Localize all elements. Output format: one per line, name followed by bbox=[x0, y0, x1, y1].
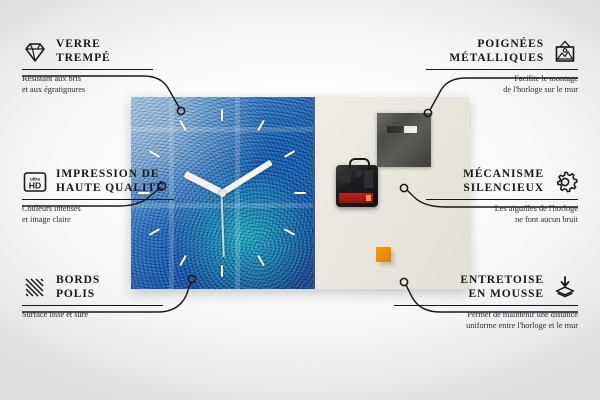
callout-rule bbox=[22, 305, 163, 306]
clock-tick bbox=[221, 109, 223, 121]
polished-edge-icon bbox=[22, 275, 48, 301]
mechanism-battery bbox=[339, 193, 373, 203]
gear-icon bbox=[552, 169, 578, 195]
callout-desc-line2: ne font aucun bruit bbox=[393, 215, 578, 226]
callout-title-line2: SILENCIEUX bbox=[463, 182, 544, 196]
callout-poignees-metalliques: POIGNÉES MÉTALLIQUES Facilite le montage… bbox=[393, 38, 578, 95]
callout-impression-haute-qualite: ultra HD IMPRESSION DE HAUTE QUALITÉ Cou… bbox=[22, 168, 207, 225]
callout-desc-line2: et aux égratignures bbox=[22, 85, 207, 96]
callout-title-line2: HAUTE QUALITÉ bbox=[56, 182, 165, 196]
callout-bords-polis: BORDS POLIS Surface lisse et sûre bbox=[22, 274, 207, 321]
hanger-slot bbox=[386, 125, 418, 134]
clock-center-hub bbox=[219, 190, 226, 197]
callout-title-line2: EN MOUSSE bbox=[460, 288, 544, 302]
callout-title-line1: VERRE bbox=[56, 38, 111, 52]
picture-frame-hanger-icon bbox=[552, 39, 578, 65]
svg-text:HD: HD bbox=[29, 180, 41, 190]
callout-title-line2: POLIS bbox=[56, 288, 100, 302]
clock-mechanism bbox=[336, 165, 378, 207]
ultra-hd-icon: ultra HD bbox=[22, 169, 48, 195]
battery-terminal bbox=[366, 195, 371, 201]
callout-desc-line1: Facilite le montage bbox=[393, 74, 578, 85]
mechanism-detail-c bbox=[364, 170, 373, 188]
callout-title-line1: BORDS bbox=[56, 274, 100, 288]
mechanism-detail-b bbox=[355, 170, 362, 177]
callout-desc-line1: Permet de maintenir une distance bbox=[373, 310, 578, 321]
callout-desc-line1: Les aiguilles de l'horloge bbox=[393, 204, 578, 215]
callout-desc-line2: uniforme entre l'horloge et le mur bbox=[373, 321, 578, 332]
callout-desc-line1: Résistant aux bris bbox=[22, 74, 207, 85]
foam-spacer-icon bbox=[552, 275, 578, 301]
callout-title-line1: ENTRETOISE bbox=[460, 274, 544, 288]
metal-hanger bbox=[377, 113, 431, 167]
callout-desc-line1: Couleurs intenses bbox=[22, 204, 207, 215]
callout-title-line1: POIGNÉES bbox=[449, 38, 544, 52]
callout-entretoise-en-mousse: ENTRETOISE EN MOUSSE Permet de maintenir… bbox=[373, 274, 578, 331]
callout-rule bbox=[426, 199, 578, 200]
panel-seam-vertical-2 bbox=[235, 97, 240, 289]
callout-desc-line2: de l'horloge sur le mur bbox=[393, 85, 578, 96]
callout-title-line1: MÉCANISME bbox=[463, 168, 544, 182]
diamond-icon bbox=[22, 39, 48, 65]
callout-rule bbox=[22, 69, 153, 70]
panel-seam-horizontal-1 bbox=[131, 127, 313, 132]
infographic-canvas: VERRE TREMPÉ Résistant aux bris et aux é… bbox=[0, 0, 600, 400]
callout-desc-line2: et image claire bbox=[22, 215, 207, 226]
callout-mecanisme-silencieux: MÉCANISME SILENCIEUX Les aiguilles de l'… bbox=[393, 168, 578, 225]
callout-rule bbox=[22, 199, 174, 200]
callout-rule bbox=[394, 305, 578, 306]
callout-rule bbox=[426, 69, 578, 70]
clock-tick bbox=[294, 192, 306, 194]
mechanism-hanging-loop bbox=[349, 158, 370, 169]
panel-edge bbox=[313, 97, 315, 289]
callout-title-line2: TREMPÉ bbox=[56, 52, 111, 66]
foam-spacer bbox=[376, 247, 391, 262]
clock-tick bbox=[221, 265, 223, 277]
mechanism-detail-a bbox=[340, 170, 351, 183]
callout-title-line1: IMPRESSION DE bbox=[56, 168, 165, 182]
callout-title-line2: MÉTALLIQUES bbox=[449, 52, 544, 66]
callout-verre-trempe: VERRE TREMPÉ Résistant aux bris et aux é… bbox=[22, 38, 207, 95]
callout-desc-line1: Surface lisse et sûre bbox=[22, 310, 207, 321]
